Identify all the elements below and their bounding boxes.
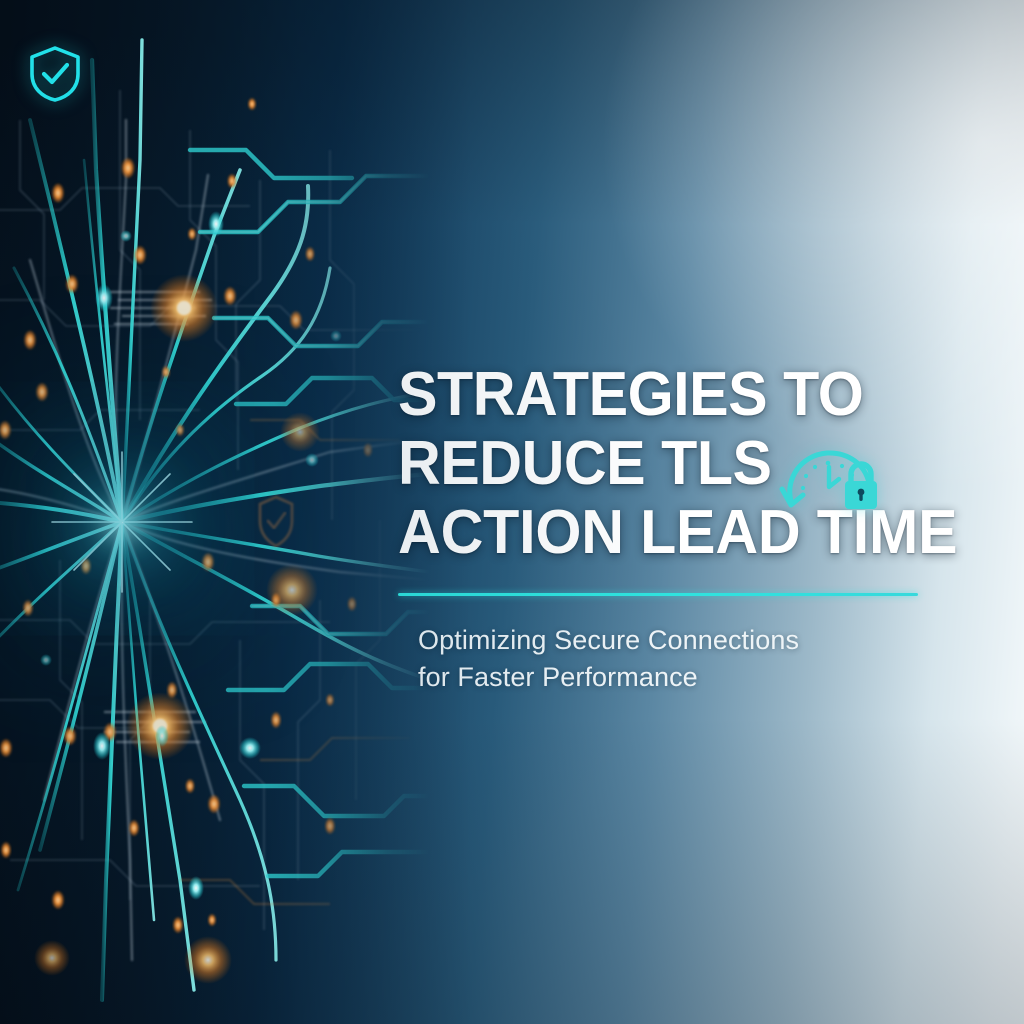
- central-hub-glow: [122, 522, 123, 523]
- neural-circuit-artwork: [0, 0, 430, 1024]
- subtitle-line-2: for Faster Performance: [418, 659, 888, 696]
- orange-circuit-echo: [180, 420, 410, 904]
- shield-check-watermark: [260, 497, 292, 546]
- title-divider: [398, 593, 918, 596]
- brand-logo[interactable]: [27, 45, 83, 103]
- headline-line-1: STRATEGIES TO: [398, 360, 914, 429]
- light-trails: [0, 40, 430, 1000]
- shield-check-icon: [27, 45, 83, 103]
- subtitle: Optimizing Secure Connections for Faster…: [418, 622, 888, 696]
- clock-lock-icon-cluster: [779, 443, 883, 521]
- padlock-icon: [845, 464, 877, 509]
- subtitle-line-1: Optimizing Secure Connections: [418, 622, 888, 659]
- poster-canvas: STRATEGIES TO REDUCE TLS ACTION LEAD TIM…: [0, 0, 1024, 1024]
- circuit-traces-svg: [0, 0, 430, 1024]
- clock-lock-svg: [779, 443, 883, 521]
